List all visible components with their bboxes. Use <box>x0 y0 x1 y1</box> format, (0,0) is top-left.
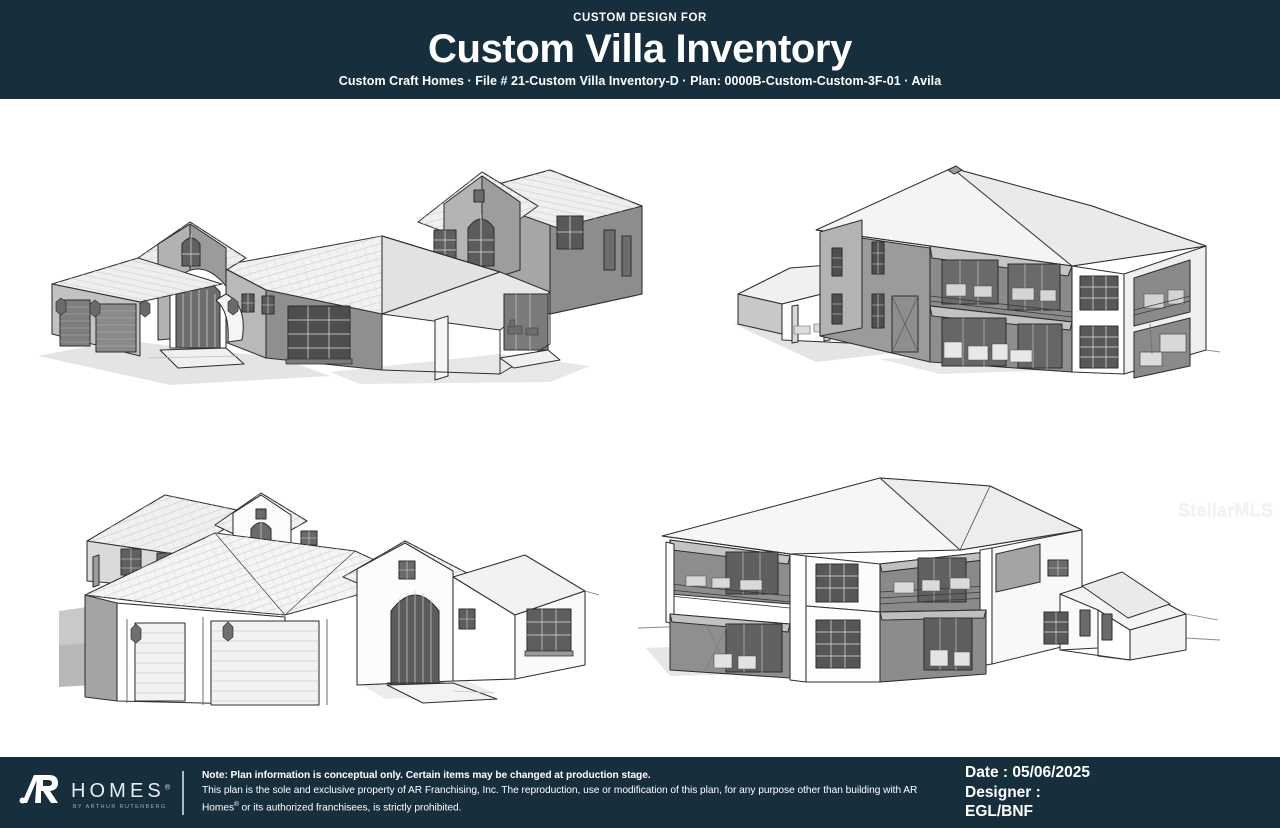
ar-homes-logo: HOMES® BY ARTHUR RUTENBERG <box>0 757 180 828</box>
page-title: Custom Villa Inventory <box>428 29 852 70</box>
stellar-mls-watermark: StellarMLS <box>1178 500 1273 521</box>
ar-monogram-icon <box>18 773 68 812</box>
date-label: Date : 05/06/2025 <box>965 763 1197 783</box>
designer-value: EGL/BNF <box>965 802 1197 822</box>
logo-tagline: BY ARTHUR RUTENBERG <box>73 805 170 810</box>
disclaimer-headline: Note: Plan information is conceptual onl… <box>202 769 947 783</box>
footer-meta-block: Date : 05/06/2025 Designer : EGL/BNF <box>947 763 1197 822</box>
rendering-sheet: StellarMLS <box>0 99 1280 757</box>
title-block-header: CUSTOM DESIGN FOR Custom Villa Inventory… <box>0 0 1280 99</box>
header-subtitle: Custom Craft Homes · File # 21-Custom Vi… <box>339 75 941 88</box>
header-eyebrow: CUSTOM DESIGN FOR <box>573 13 707 25</box>
logo-brand-text: HOMES® <box>71 781 170 801</box>
footer-divider <box>182 771 184 815</box>
title-block-footer: HOMES® BY ARTHUR RUTENBERG Note: Plan in… <box>0 757 1280 828</box>
rendering-front-entry-perspective <box>30 144 650 394</box>
rendering-rear-elevation-perspective <box>720 154 1225 394</box>
rendering-front-garage-perspective <box>55 469 600 709</box>
disclaimer-body: This plan is the sole and exclusive prop… <box>202 784 947 816</box>
designer-label: Designer : <box>965 783 1197 803</box>
footer-disclaimer: Note: Plan information is conceptual onl… <box>202 769 947 816</box>
rendering-rear-side-perspective <box>630 464 1225 689</box>
